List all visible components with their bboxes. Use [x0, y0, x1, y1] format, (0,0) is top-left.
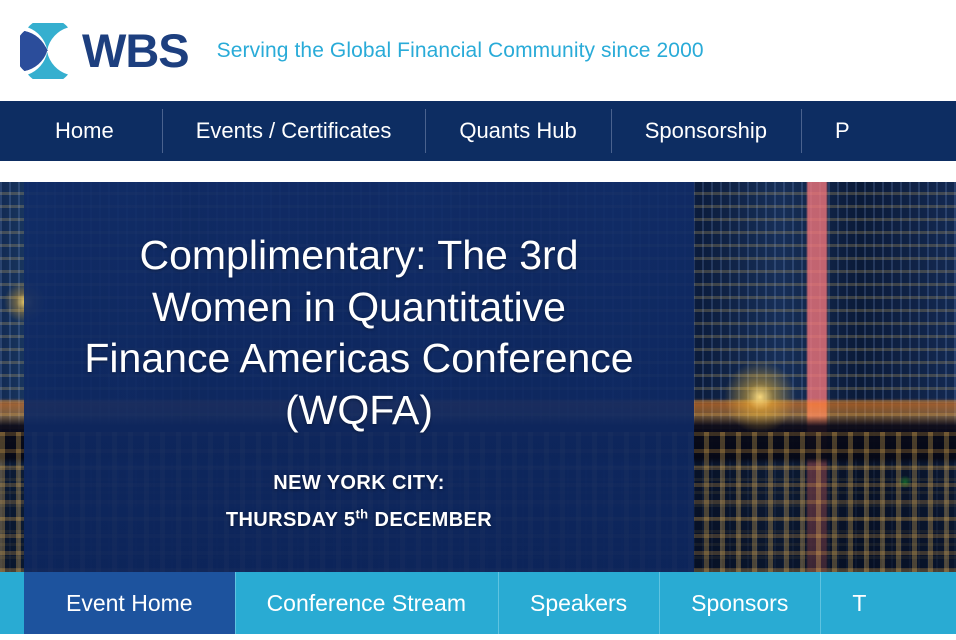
- hero-text-overlay: Complimentary: The 3rd Women in Quantita…: [24, 182, 694, 572]
- logo-wordmark: WBS: [82, 27, 189, 74]
- tab-speakers[interactable]: Speakers: [498, 572, 659, 634]
- tab-bar-left-spacer: [0, 572, 24, 634]
- site-logo[interactable]: WBS: [20, 23, 189, 79]
- event-tab-bar: Event Home Conference Stream Speakers Sp…: [0, 572, 956, 634]
- main-navigation: Home Events / Certificates Quants Hub Sp…: [0, 101, 956, 161]
- event-title: Complimentary: The 3rd Women in Quantita…: [79, 230, 639, 437]
- nav-item-events-certificates[interactable]: Events / Certificates: [162, 101, 426, 161]
- event-date-ordinal: th: [355, 506, 368, 521]
- tab-conference-stream[interactable]: Conference Stream: [235, 572, 498, 634]
- event-city: NEW YORK CITY:: [226, 465, 492, 502]
- nav-item-sponsorship[interactable]: Sponsorship: [611, 101, 801, 161]
- nav-item-home[interactable]: Home: [0, 101, 162, 161]
- tab-event-home[interactable]: Event Home: [24, 572, 235, 634]
- nav-item-quants-hub[interactable]: Quants Hub: [425, 101, 610, 161]
- tab-sponsors[interactable]: Sponsors: [659, 572, 820, 634]
- nav-item-partial-truncated[interactable]: P: [801, 101, 884, 161]
- site-tagline: Serving the Global Financial Community s…: [217, 39, 704, 63]
- tab-partial-truncated[interactable]: T: [820, 572, 898, 634]
- event-hero-banner: Complimentary: The 3rd Women in Quantita…: [0, 182, 956, 572]
- site-header: WBS Serving the Global Financial Communi…: [0, 0, 956, 101]
- event-date: THURSDAY 5th DECEMBER: [226, 502, 492, 539]
- event-date-month: DECEMBER: [369, 509, 493, 531]
- wbs-circular-logo-icon: [20, 23, 76, 79]
- event-location-date: NEW YORK CITY: THURSDAY 5th DECEMBER: [226, 465, 492, 539]
- event-date-day: THURSDAY 5: [226, 509, 356, 531]
